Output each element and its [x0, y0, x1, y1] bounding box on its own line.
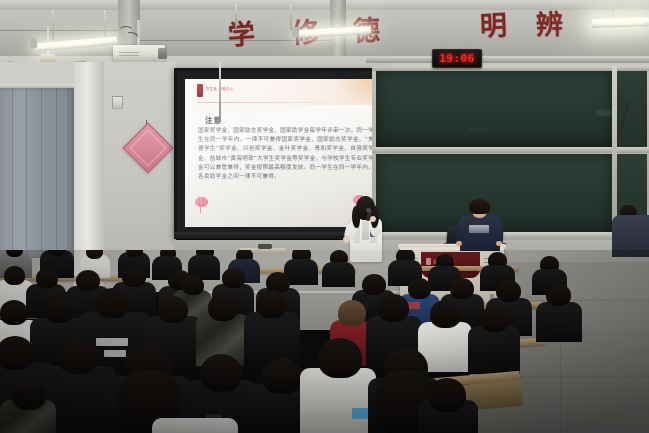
operator-shirt-print: [469, 225, 489, 233]
audience-head: [44, 296, 74, 323]
projector-lens: [158, 48, 167, 59]
lamp-glow: [596, 19, 646, 25]
slide-operator: [460, 199, 500, 251]
wall-calligraphy-char: 辨: [536, 12, 563, 39]
lamp-end-cap: [30, 38, 38, 49]
operator-hair: [469, 199, 490, 214]
board-top-ledge: [366, 57, 649, 63]
audience-head: [96, 288, 130, 318]
lamp-end-cap: [292, 27, 299, 37]
lamp-rod: [612, 0, 614, 20]
audience-head: [428, 378, 466, 412]
audience-head: [480, 306, 509, 332]
lamp-rod: [52, 10, 54, 40]
audience-torso: [468, 326, 520, 374]
hanging-wire: [219, 62, 221, 122]
wall-calligraphy-char: 明: [480, 13, 508, 41]
wall-outlet: [112, 96, 123, 109]
audience-head: [182, 276, 204, 295]
shirt-print: [104, 350, 126, 357]
audience-head: [58, 338, 98, 374]
audience-head: [256, 290, 287, 318]
ceiling-fan-rod: [47, 26, 49, 56]
audience-head: [0, 336, 34, 370]
audience-head: [496, 280, 521, 302]
window-curtain: [0, 88, 74, 258]
audience-head: [318, 338, 362, 378]
lecture-hall-photo: 学 修 德 明 辨: [0, 0, 649, 433]
audience-head: [362, 274, 386, 295]
operator-hand: [496, 241, 502, 246]
presenter-hand-right: [343, 236, 350, 243]
audience-head: [4, 266, 25, 285]
blackboard-rail-vertical: [612, 66, 617, 239]
digital-clock: 19:06: [432, 49, 482, 68]
microphone-receiver: [258, 244, 272, 249]
audience-head: [122, 266, 146, 287]
audience-head: [76, 270, 100, 291]
audience-torso: [536, 302, 582, 342]
microphone-head: [366, 208, 371, 212]
presenter-inner-shirt: [362, 220, 369, 240]
audience-head: [158, 296, 188, 323]
shirt-print: [96, 338, 128, 346]
projector-vent: [119, 55, 139, 56]
audience-head: [408, 278, 431, 299]
audience-head: [200, 354, 242, 392]
operator-hand: [456, 241, 462, 246]
clock-time: 19:06: [439, 52, 475, 65]
audience-head: [36, 268, 58, 288]
blackboard-rail-top: [372, 66, 649, 71]
chalk-smudge: [468, 128, 488, 132]
lantern-decoration-icon: [195, 197, 208, 207]
lamp-rod: [235, 4, 237, 28]
ceiling-panel-line: [0, 30, 120, 31]
audience-head: [450, 278, 474, 299]
audience-head: [0, 300, 28, 325]
audience-head: [430, 300, 461, 328]
audience-torso: [244, 312, 300, 366]
blackboard-assembly: [372, 66, 649, 241]
presenter-hand-left: [370, 216, 376, 222]
audience-head: [378, 294, 409, 322]
audience-head: [546, 284, 571, 306]
projector-vent: [119, 52, 139, 53]
audience-head: [338, 300, 366, 326]
ceiling-beam: [0, 0, 649, 10]
audience-torso: [152, 418, 238, 433]
blackboard-panel-upper: [376, 71, 612, 147]
audience-head: [208, 294, 238, 321]
university-crest-icon: [197, 84, 203, 97]
audience-torso: [322, 262, 355, 287]
blackboard-side-panel: [617, 71, 647, 147]
blackboard-chalk-tray: [372, 232, 649, 239]
chalk-smudge: [596, 110, 612, 116]
audience-area: [0, 250, 649, 433]
audience-head: [12, 380, 46, 410]
slide-body-text: 国家奖学金、国家励志奖学金、国家助学金每学年评审一次。同一学生在同一学年内，一律…: [198, 127, 374, 182]
wall-calligraphy-char: 学: [227, 21, 256, 50]
audience-head: [262, 358, 302, 394]
blackboard-rail-mid: [372, 147, 649, 153]
audience-head: [222, 268, 245, 288]
